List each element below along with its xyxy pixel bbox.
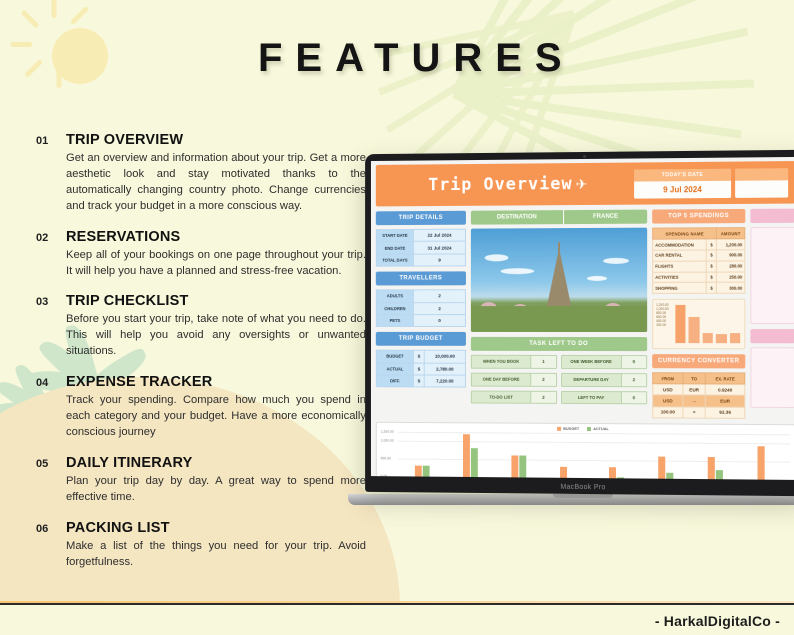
tasks-grid: WHEN YOU BOOK 1 ONE DAY BEFORE 2 TO-DO L… <box>471 355 647 409</box>
section-trip-details: TRIP DETAILS <box>376 211 466 225</box>
legend-label: ACTUAL <box>593 427 609 431</box>
tasks-column-right: ONE WEEK BEFORE 0 DEPARTURE DAY 2 LEFT T… <box>561 355 648 409</box>
equals-icon: ≡ <box>683 407 706 418</box>
feature-description: Track your spending. Compare how much yo… <box>66 393 366 441</box>
feature-number: 05 <box>36 455 66 506</box>
cell-value[interactable]: 22 Jul 2024 <box>414 229 466 242</box>
cell-value[interactable]: 10,000.00 <box>424 350 465 362</box>
feature-description: Make a list of the things you need for y… <box>66 539 366 571</box>
spending-amount: 300.00 <box>717 282 745 293</box>
feature-title: RESERVATIONS <box>66 229 366 245</box>
chart-bar <box>519 456 526 478</box>
budget-vs-actual-chart: BUDGET ACTUAL 1,200.00 <box>376 422 794 480</box>
task-row[interactable]: ONE WEEK BEFORE 0 <box>561 355 648 369</box>
todays-date-label: TODAY'S DATE <box>634 168 731 181</box>
chart-bar <box>560 467 567 478</box>
chart-bar <box>511 456 518 478</box>
column-header: EX. RATE <box>705 373 744 384</box>
cell-currency: $ <box>414 350 425 362</box>
spreadsheet: Trip Overview ✈ TODAY'S DATE 9 Jul 2024 <box>371 157 794 480</box>
task-count: 2 <box>530 374 555 386</box>
y-axis-tick: 500.00 <box>381 456 391 460</box>
feature-title: EXPENSE TRACKER <box>66 374 366 390</box>
column-right: TOP 5 SPENDINGS SPENDING NAME AMOUNT ACC… <box>652 209 745 419</box>
destination-header: DESTINATION FRANCE <box>471 210 647 225</box>
spending-amount: 900.00 <box>717 250 745 261</box>
cell-key: TOTAL DAYS <box>376 254 413 266</box>
task-label: TO-DO LIST <box>472 391 531 403</box>
feature-item: 02 RESERVATIONS Keep all of your booking… <box>36 229 366 280</box>
feature-item: 04 EXPENSE TRACKER Track your spending. … <box>36 374 366 441</box>
chart-bar <box>423 466 430 477</box>
cell-value[interactable]: 7,220.00 <box>424 375 465 387</box>
spending-currency: $ <box>706 239 716 250</box>
feature-number: 04 <box>36 374 66 441</box>
chart-bar <box>708 457 715 479</box>
cell-key: ACTUAL <box>376 363 413 375</box>
feature-item: 01 TRIP OVERVIEW Get an overview and inf… <box>36 132 366 215</box>
task-count: 2 <box>530 391 555 403</box>
page-title: FEATURES <box>258 36 575 81</box>
chart-bar <box>617 477 624 478</box>
feature-description: Keep all of your bookings on one page th… <box>66 248 366 280</box>
cell-key: PETS <box>376 314 413 326</box>
column-far-right <box>750 209 794 419</box>
task-label: LEFT TO PAY <box>562 391 621 403</box>
laptop-mockup: Trip Overview ✈ TODAY'S DATE 9 Jul 2024 <box>362 152 794 505</box>
x-axis-tick: ACCOMMODATION <box>398 477 446 480</box>
secondary-date-box <box>735 168 788 198</box>
task-label: ONE WEEK BEFORE <box>562 356 621 368</box>
airplane-icon: ✈ <box>576 175 588 192</box>
spending-currency: $ <box>706 272 716 283</box>
trip-details-table: START DATE 22 Jul 2024 END DATE 31 Jul 2… <box>376 229 466 267</box>
table-row: ACCOMMODATION $ 1,200.00 <box>653 239 745 250</box>
currency-from[interactable]: USD <box>653 384 683 395</box>
chart-bar <box>666 473 673 478</box>
table-row: 100.00 ≡ 92.36 <box>653 406 745 418</box>
section-destination: DESTINATION <box>471 210 563 225</box>
arrow-icon: → <box>683 395 706 406</box>
table-row: USD EUR 0.9240 <box>653 384 745 396</box>
task-row[interactable]: LEFT TO PAY 0 <box>561 390 648 404</box>
bar-group <box>398 432 446 477</box>
task-label: DEPARTURE DAY <box>562 374 621 386</box>
bar-group <box>446 432 494 477</box>
cell-value[interactable]: 2 <box>414 302 466 314</box>
travellers-table: ADULTS 2 CHILDREN 2 PETS 0 <box>376 289 466 327</box>
cell-value[interactable]: 31 Jul 2024 <box>414 241 466 254</box>
feature-number: 01 <box>36 132 66 215</box>
bar-group <box>543 433 592 478</box>
spending-name: CAR RENTAL <box>653 250 707 261</box>
table-header-row: FROM TO EX. RATE <box>653 373 745 385</box>
laptop-model-label: MacBook Pro <box>365 482 794 493</box>
cell-value[interactable]: 9 <box>414 254 466 266</box>
task-count: 0 <box>621 392 646 404</box>
x-axis-tick: TICKETS <box>543 478 592 479</box>
feature-description: Before you start your trip, take note of… <box>66 312 366 360</box>
column-center: DESTINATION FRANCE <box>471 210 647 419</box>
feature-item: 06 PACKING LIST Make a list of the thing… <box>36 520 366 571</box>
y-axis-tick: 1,000.00 <box>381 438 394 442</box>
currency-to-alt: EUR <box>705 395 744 406</box>
top-spendings-table: SPENDING NAME AMOUNT ACCOMMODATION $ 1,2… <box>652 227 745 294</box>
chart-bar <box>716 470 723 479</box>
table-row: ACTUAL $ 2,780.00 <box>376 363 465 375</box>
feature-title: TRIP OVERVIEW <box>66 132 366 148</box>
spreadsheet-columns: TRIP DETAILS START DATE 22 Jul 2024 END … <box>376 209 794 419</box>
legend-label: BUDGET <box>563 427 579 431</box>
chart-bar <box>758 447 765 480</box>
cell-key: DIFF. <box>376 375 413 387</box>
feature-number: 03 <box>36 293 66 360</box>
x-axis-tick: TRIPS + TOURS <box>495 478 544 480</box>
trip-budget-table: BUDGET $ 10,000.00 ACTUAL $ 2,780.00 <box>376 350 466 388</box>
currency-converter-table: FROM TO EX. RATE USD EUR 0.9240 <box>652 372 745 418</box>
feature-number: 06 <box>36 520 66 571</box>
chart-bar <box>658 457 665 479</box>
legend-item-actual: ACTUAL <box>587 427 609 431</box>
task-count: 1 <box>530 356 555 368</box>
todays-date-box: TODAY'S DATE 9 Jul 2024 <box>634 168 731 198</box>
task-count: 2 <box>621 374 646 386</box>
poster-page: - HarkalDigitalCo - FEATURES 01 TRIP OVE… <box>0 0 794 635</box>
cell-key: START DATE <box>376 229 413 241</box>
table-row: FLIGHTS $ 280.00 <box>653 261 745 272</box>
task-label: WHEN YOU BOOK <box>472 356 531 368</box>
table-header-row: SPENDING NAME AMOUNT <box>653 228 745 240</box>
converted-amount: 92.36 <box>705 407 744 418</box>
y-axis-tick: 1,200.00 <box>381 430 394 434</box>
table-row: DIFF. $ 7,220.00 <box>376 375 465 388</box>
x-axis-tick: CAR RENTAL <box>446 478 494 480</box>
table-row: BUDGET $ 10,000.00 <box>376 350 465 362</box>
bar-group <box>740 434 790 480</box>
features-list: 01 TRIP OVERVIEW Get an overview and inf… <box>36 132 366 585</box>
table-row: CHILDREN 2 <box>376 302 465 314</box>
cell-key: END DATE <box>376 242 413 254</box>
table-row: PETS 0 <box>376 314 465 326</box>
feature-item: 05 DAILY ITINERARY Plan your trip day by… <box>36 455 366 506</box>
table-row: ACTIVITIES $ 250.00 <box>653 272 745 283</box>
feature-title: PACKING LIST <box>66 520 366 536</box>
column-left: TRIP DETAILS START DATE 22 Jul 2024 END … <box>376 211 466 417</box>
chart-bar <box>415 466 422 477</box>
feature-title: TRIP CHECKLIST <box>66 293 366 309</box>
column-header: TO <box>683 373 706 384</box>
task-row[interactable]: TO-DO LIST 2 <box>471 390 557 404</box>
cell-currency: $ <box>414 363 425 375</box>
feature-description: Get an overview and information about yo… <box>66 151 366 215</box>
section-task-left: TASK LEFT TO DO <box>471 337 647 351</box>
spending-amount: 1,200.00 <box>717 239 745 250</box>
cell-value[interactable]: 2,780.00 <box>424 363 465 375</box>
cell-value[interactable]: 2 <box>414 290 466 302</box>
column-header: AMOUNT <box>717 228 745 239</box>
y-axis-tick: 0.00 <box>381 474 387 478</box>
spending-name: SHOPPING <box>653 283 707 294</box>
spending-name: ACCOMMODATION <box>653 239 707 250</box>
section-trip-budget: TRIP BUDGET <box>376 332 466 346</box>
column-header: SPENDING NAME <box>653 228 717 240</box>
feature-description: Plan your trip day by day. A great way t… <box>66 474 366 506</box>
table-row: START DATE 22 Jul 2024 <box>376 229 465 242</box>
laptop-screen: Trip Overview ✈ TODAY'S DATE 9 Jul 2024 <box>371 157 794 480</box>
cell-key: ADULTS <box>376 290 413 302</box>
table-row: SHOPPING $ 300.00 <box>653 282 745 293</box>
bar-group <box>495 432 544 477</box>
spending-currency: $ <box>706 261 716 272</box>
spending-currency: $ <box>706 282 716 293</box>
cell-currency: $ <box>414 375 425 387</box>
currency-from-alt: USD <box>653 395 683 406</box>
laptop-lid: Trip Overview ✈ TODAY'S DATE 9 Jul 2024 <box>365 150 794 496</box>
laptop-base <box>348 494 794 505</box>
spreadsheet-banner: Trip Overview ✈ TODAY'S DATE 9 Jul 2024 <box>376 161 794 206</box>
todays-date-value[interactable]: 9 Jul 2024 <box>634 180 731 198</box>
x-axis-tick: RESTAURANTS <box>592 479 641 480</box>
legend-item-budget: BUDGET <box>557 427 579 431</box>
task-row[interactable]: DEPARTURE DAY 2 <box>561 373 648 387</box>
tasks-column-left: WHEN YOU BOOK 1 ONE DAY BEFORE 2 TO-DO L… <box>471 355 557 408</box>
x-axis-tick: ACTIVITIES <box>641 479 690 480</box>
chart-bar <box>471 448 478 477</box>
section-currency-converter: CURRENCY CONVERTER <box>652 354 745 368</box>
spending-name: ACTIVITIES <box>653 272 707 283</box>
table-row: END DATE 31 Jul 2024 <box>376 241 465 254</box>
task-label: ONE DAY BEFORE <box>472 373 531 385</box>
destination-photo <box>471 228 647 332</box>
bar-group <box>691 434 741 480</box>
bar-group <box>592 433 641 478</box>
laptop-notch <box>553 494 613 498</box>
spreadsheet-title: Trip Overview <box>428 174 572 195</box>
feature-item: 03 TRIP CHECKLIST Before you start your … <box>36 293 366 360</box>
cell-value[interactable]: 0 <box>414 314 466 326</box>
feature-number: 02 <box>36 229 66 280</box>
section-top-spendings: TOP 5 SPENDINGS <box>652 209 745 224</box>
chart-bar <box>463 434 470 477</box>
chart-bar <box>609 467 616 478</box>
chart-bars <box>398 432 790 480</box>
spending-amount: 250.00 <box>717 272 745 283</box>
brand-footer: - HarkalDigitalCo - <box>655 613 780 629</box>
spending-amount: 280.00 <box>717 261 745 272</box>
section-travellers: TRAVELLERS <box>376 271 466 285</box>
footer-divider <box>0 603 794 605</box>
currency-to[interactable]: EUR <box>683 384 706 395</box>
webcam-icon <box>583 155 586 158</box>
mini-spendings-chart: 1,200.00 1,000.00 800.00 600.00 400.00 2… <box>652 299 745 349</box>
table-row: ADULTS 2 <box>376 290 465 302</box>
chart-plot-area: 1,200.00 1,000.00 500.00 0.00 <box>398 432 790 480</box>
table-row: TOTAL DAYS 9 <box>376 254 465 267</box>
eiffel-tower-shape <box>546 248 572 310</box>
exchange-rate: 0.9240 <box>705 384 744 395</box>
column-header: FROM <box>653 373 683 384</box>
spending-name: FLIGHTS <box>653 261 707 272</box>
table-row: CAR RENTAL $ 900.00 <box>653 250 745 261</box>
cell-key: CHILDREN <box>376 302 413 314</box>
cell-key: BUDGET <box>376 350 413 362</box>
task-row[interactable]: ONE DAY BEFORE 2 <box>471 372 557 386</box>
amount-input[interactable]: 100.00 <box>653 406 683 417</box>
spending-currency: $ <box>706 250 716 261</box>
feature-title: DAILY ITINERARY <box>66 455 366 471</box>
table-row: USD → EUR <box>653 395 745 407</box>
sun-icon <box>26 14 82 70</box>
bar-group <box>641 433 690 479</box>
task-count: 0 <box>621 356 646 368</box>
task-row[interactable]: WHEN YOU BOOK 1 <box>471 355 557 369</box>
destination-value[interactable]: FRANCE <box>563 210 647 225</box>
